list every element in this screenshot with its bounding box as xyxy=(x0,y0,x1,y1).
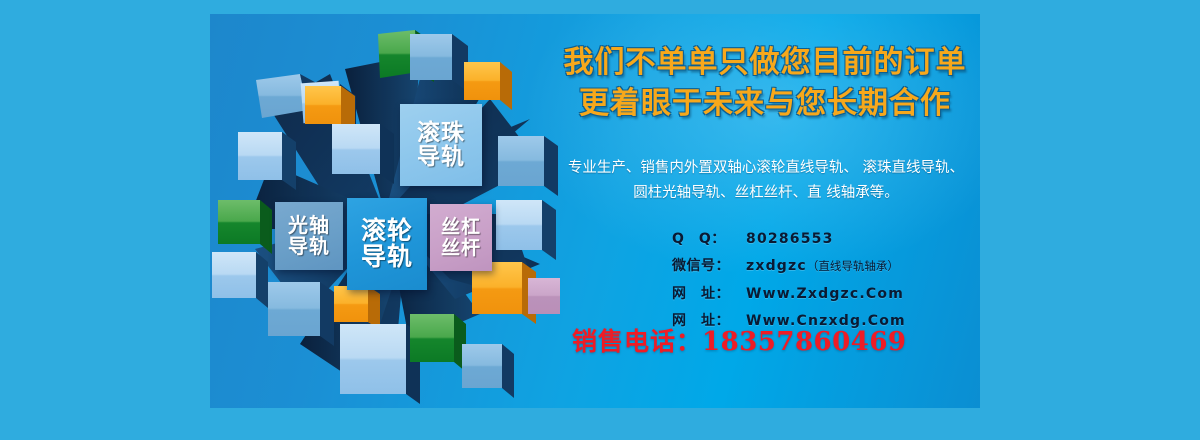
product-label-optical-shaft-guide-line2: 导轨 xyxy=(288,236,330,257)
page-root: 滚珠 导轨 光轴 导轨 滚轮 导轨 丝杠 丝杆 我们不单单只做您目前的订单 更着… xyxy=(0,0,1200,440)
product-label-lead-screw-line2: 丝杆 xyxy=(441,238,481,258)
description-line-1: 专业生产、销售内外置双轴心滚轮直线导轨、 xyxy=(568,160,858,176)
product-label-optical-shaft-guide: 光轴 导轨 xyxy=(275,202,343,270)
headline-line-1: 我们不单单只做您目前的订单 xyxy=(550,42,980,83)
contact-row-wechat: 微信号： zxdgzc （直线导轨轴承） xyxy=(672,253,906,280)
sales-phone-number: 18357860469 xyxy=(702,327,907,357)
sales-phone-label: 销售电话： xyxy=(572,327,702,356)
product-label-ball-guide-line1: 滚珠 xyxy=(417,121,465,145)
product-label-lead-screw: 丝杠 丝杆 xyxy=(430,204,492,271)
sales-phone: 销售电话：18357860469 xyxy=(572,322,972,358)
contact-block: Q Q： 80286553 微信号： zxdgzc （直线导轨轴承） 网 址： … xyxy=(672,226,906,335)
product-label-roller-guide: 滚轮 导轨 xyxy=(347,198,427,290)
contact-label-website-1: 网 址： xyxy=(672,281,746,308)
description-line-3: 线轴承等。 xyxy=(826,185,899,201)
product-label-ball-guide: 滚珠 导轨 xyxy=(400,104,482,186)
headline-line-2: 更着眼于未来与您长期合作 xyxy=(550,83,980,124)
contact-value-website-1[interactable]: Www.Zxdgzc.Com xyxy=(746,281,904,308)
contact-label-wechat: 微信号： xyxy=(672,253,746,280)
contact-row-website-1: 网 址： Www.Zxdgzc.Com xyxy=(672,281,906,308)
product-label-roller-guide-line2: 导轨 xyxy=(361,244,413,271)
contact-note-wechat: （直线导轨轴承） xyxy=(807,255,899,277)
headline: 我们不单单只做您目前的订单 更着眼于未来与您长期合作 xyxy=(550,42,980,125)
contact-value-qq: 80286553 xyxy=(746,226,834,253)
product-label-ball-guide-line2: 导轨 xyxy=(417,145,465,169)
product-label-roller-guide-line1: 滚轮 xyxy=(361,218,413,245)
description: 专业生产、销售内外置双轴心滚轮直线导轨、 滚珠直线导轨、圆柱光轴导轨、丝杠丝杆、… xyxy=(566,156,966,206)
banner-copy: 我们不单单只做您目前的订单 更着眼于未来与您长期合作 专业生产、销售内外置双轴心… xyxy=(550,14,980,408)
product-label-lead-screw-line1: 丝杠 xyxy=(441,217,481,237)
contact-row-qq: Q Q： 80286553 xyxy=(672,226,906,253)
promo-banner: 滚珠 导轨 光轴 导轨 滚轮 导轨 丝杠 丝杆 我们不单单只做您目前的订单 更着… xyxy=(210,14,980,408)
contact-value-wechat: zxdgzc xyxy=(746,253,807,280)
product-label-optical-shaft-guide-line1: 光轴 xyxy=(288,215,330,236)
contact-label-qq: Q Q： xyxy=(672,226,746,253)
